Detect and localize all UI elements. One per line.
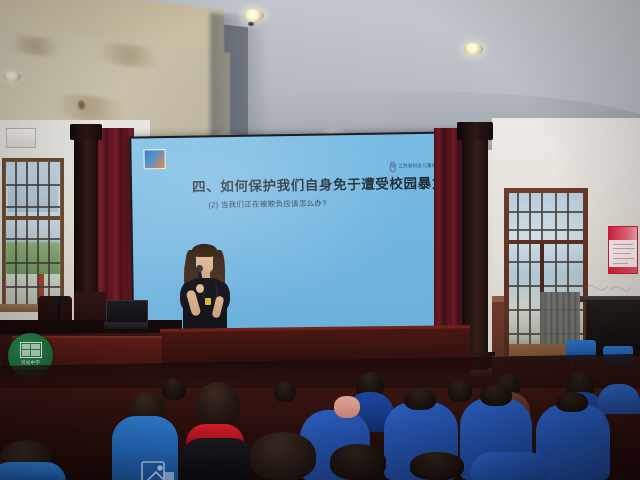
- door-transom: [509, 240, 583, 244]
- shirt-print-icon: [138, 458, 178, 480]
- stain-blotch: [86, 39, 172, 72]
- slide-subtitle: (2) 当我们正在被欺负应该怎么办?: [208, 196, 438, 211]
- student-head: [556, 392, 588, 412]
- microphone-head-icon: [196, 265, 203, 272]
- poster-footer: [609, 267, 638, 273]
- downlight-icon: [464, 43, 483, 55]
- emblem-glyph-icon: [20, 342, 42, 358]
- student-head: [334, 396, 360, 418]
- student-head: [410, 452, 464, 480]
- student-blue-shirt: SPORT: [112, 416, 178, 480]
- student-head: [480, 384, 512, 406]
- left-column-capital: [70, 124, 102, 140]
- window-bar: [6, 206, 60, 208]
- student-head: [448, 380, 472, 402]
- poster-header: [609, 227, 638, 240]
- door-bar: [509, 229, 583, 231]
- ceiling-speck: [248, 22, 254, 26]
- downlight-icon: [3, 71, 21, 82]
- wall-mounted-box: [6, 128, 36, 148]
- door-bar: [529, 193, 531, 365]
- poster-text-line: [613, 248, 635, 249]
- poster-text-line: [613, 253, 631, 254]
- ceiling-mark: [78, 100, 85, 110]
- student-backpack: [470, 452, 550, 480]
- window-bar: [6, 286, 60, 288]
- laptop-base: [104, 322, 148, 329]
- door-bar: [509, 285, 583, 287]
- slide-logo-icon: [143, 149, 165, 169]
- wall-scuff-marks: [582, 280, 632, 294]
- circle-monogram-icon: b: [390, 161, 397, 172]
- student-head: [250, 432, 316, 480]
- door-bar: [509, 211, 583, 213]
- student-shirt: [598, 384, 640, 414]
- student-head: [196, 382, 240, 426]
- door-bar: [509, 261, 583, 263]
- student-shirt: [180, 438, 254, 480]
- slide-title: 四、如何保护我们自身免于遭受校园暴力: [192, 172, 442, 196]
- student-head: [330, 444, 386, 480]
- stain-blotch: [0, 32, 70, 59]
- student-shirt: [0, 462, 66, 480]
- photo-scene: b 江苏省妇女儿童福利基金会 四、如何保护我们自身免于遭受校园暴力 (2) 当我…: [0, 0, 640, 480]
- door-bar: [517, 193, 519, 365]
- soffit-shadow: [210, 13, 270, 150]
- poster-text-line: [613, 244, 633, 245]
- window-mullion: [6, 216, 60, 220]
- student-head: [162, 378, 186, 400]
- presenter-hand: [196, 284, 204, 293]
- downlight-icon: [243, 9, 264, 22]
- right-column-capital: [457, 122, 493, 140]
- student-head: [404, 388, 436, 410]
- poster-text-line: [613, 263, 628, 264]
- presenter-badge: [205, 298, 211, 305]
- student-head: [274, 382, 296, 402]
- window-bar: [6, 184, 60, 186]
- left-window-glass: [6, 162, 60, 306]
- window-bar: [6, 238, 60, 240]
- wall-poster: [608, 226, 638, 274]
- desk-microphone-head-icon: [54, 296, 64, 302]
- poster-text-line: [613, 258, 634, 259]
- window-bar: [6, 262, 60, 264]
